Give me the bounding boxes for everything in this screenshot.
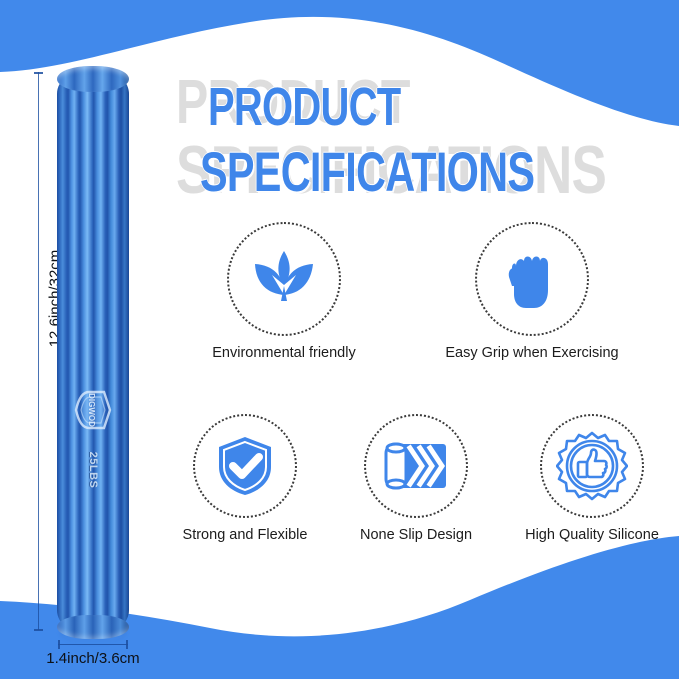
- title-line-2: SPECIFICATIONS: [200, 144, 534, 200]
- width-dimension-tick-left: [58, 640, 60, 649]
- feature-strong-flexible: Strong and Flexible: [160, 414, 330, 543]
- thumbs-up-badge-icon: [556, 430, 628, 502]
- feature-label: Strong and Flexible: [160, 527, 330, 543]
- width-dimension-line: [58, 644, 128, 645]
- feature-icon-circle: [540, 414, 644, 518]
- feature-label: None Slip Design: [332, 527, 500, 543]
- feature-grid: Environmental friendly Easy Grip when Ex…: [160, 222, 670, 582]
- feature-label: Easy Grip when Exercising: [422, 345, 642, 361]
- feature-icon-circle: [193, 414, 297, 518]
- height-dimension-tick-bottom: [34, 629, 43, 631]
- rolled-mat-icon: [384, 440, 448, 492]
- bar-embossing: DIGWOD 25LBS: [59, 368, 127, 518]
- svg-text:DIGWOD: DIGWOD: [87, 393, 96, 427]
- page-title: PRODUCT SPECIFICATIONS PRODUCT SPECIFICA…: [170, 58, 670, 198]
- bar-bottom-cap: [57, 615, 129, 639]
- feature-label: Environmental friendly: [184, 345, 384, 361]
- feature-icon-circle: [227, 222, 341, 336]
- width-dimension-tick-right: [126, 640, 128, 649]
- title-line-1: PRODUCT: [208, 80, 400, 134]
- width-label: 1.4inch/3.6cm: [0, 650, 186, 667]
- product-specifications-poster: 12.6inch/32cm DIGWOD 25LBS 1.4inch/3.6cm…: [0, 0, 679, 679]
- feature-easy-grip: Easy Grip when Exercising: [422, 222, 642, 361]
- product-illustration: 12.6inch/32cm DIGWOD 25LBS 1.4inch/3.6cm: [0, 0, 170, 679]
- bar-body: [57, 68, 129, 636]
- leaf-icon: [251, 249, 317, 309]
- feature-environmental-friendly: Environmental friendly: [184, 222, 384, 361]
- fist-icon: [504, 246, 560, 312]
- height-dimension-line: [38, 72, 39, 630]
- weight-label: 25LBS: [87, 452, 99, 489]
- shield-check-icon: [216, 435, 274, 497]
- crest-logo-icon: DIGWOD: [73, 387, 113, 433]
- height-dimension-tick-top: [34, 72, 43, 74]
- exercise-bar: DIGWOD 25LBS: [57, 68, 129, 636]
- feature-icon-circle: [364, 414, 468, 518]
- feature-icon-circle: [475, 222, 589, 336]
- feature-high-quality-silicone: High Quality Silicone: [502, 414, 679, 543]
- feature-none-slip: None Slip Design: [332, 414, 500, 543]
- bar-top-cap: [57, 66, 129, 92]
- feature-label: High Quality Silicone: [502, 527, 679, 543]
